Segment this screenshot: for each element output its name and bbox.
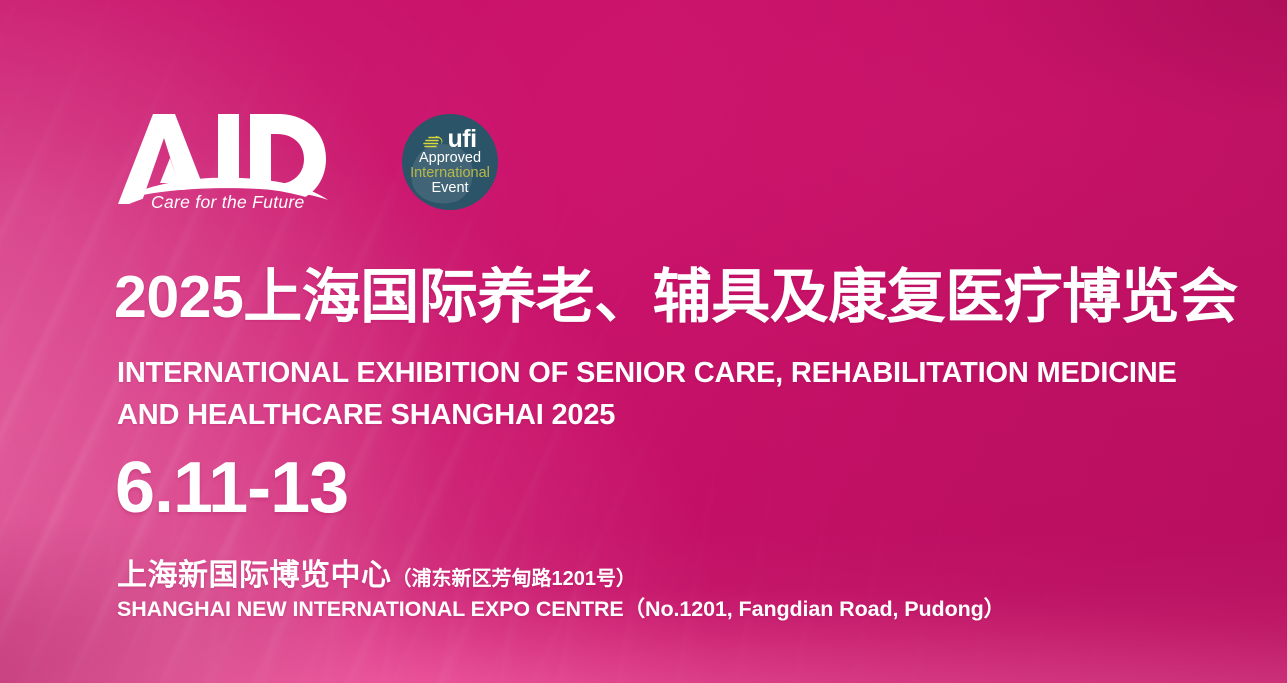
aid-logo: Care for the Future xyxy=(118,108,330,216)
event-title-english-line1: INTERNATIONAL EXHIBITION OF SENIOR CARE,… xyxy=(117,352,1177,394)
aid-tagline: Care for the Future xyxy=(151,192,305,213)
ufi-line-approved: Approved xyxy=(419,151,481,166)
event-title-chinese: 2025上海国际养老、辅具及康复医疗博览会 xyxy=(114,268,1238,327)
ufi-line-event: Event xyxy=(431,181,468,196)
event-date: 6.11-13 xyxy=(115,452,348,524)
event-title-english-line2: AND HEALTHCARE SHANGHAI 2025 xyxy=(117,394,1177,436)
banner-content: Care for the Future xyxy=(0,0,1287,683)
ufi-wordmark: ufi xyxy=(447,129,476,151)
venue-chinese-address: （浦东新区芳甸路1201号） xyxy=(392,568,637,590)
event-banner: Care for the Future xyxy=(0,0,1287,683)
event-title-english: INTERNATIONAL EXHIBITION OF SENIOR CARE,… xyxy=(117,352,1177,436)
logo-row: Care for the Future xyxy=(118,108,498,216)
venue-chinese-name: 上海新国际博览中心 xyxy=(117,559,392,592)
ufi-approved-badge: ufi Approved International Event xyxy=(402,114,498,210)
venue-chinese: 上海新国际博览中心（浦东新区芳甸路1201号） xyxy=(117,550,636,594)
ufi-swoosh-icon xyxy=(423,134,445,150)
ufi-line-international: International xyxy=(410,166,490,181)
venue-english: SHANGHAI NEW INTERNATIONAL EXPO CENTRE（N… xyxy=(117,592,1005,623)
